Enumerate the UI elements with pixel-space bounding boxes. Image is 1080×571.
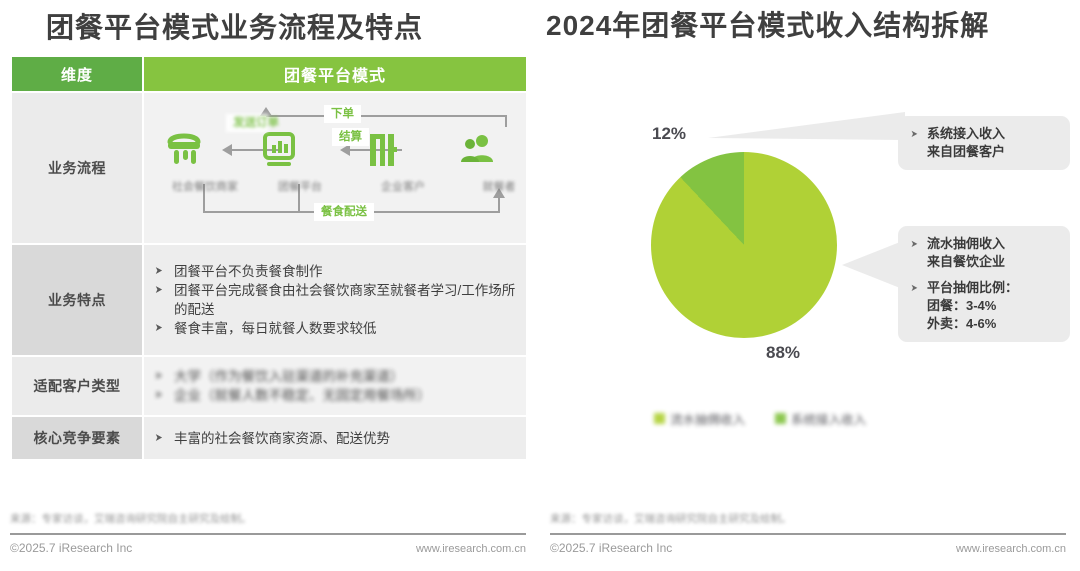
list-item: 团餐平台不负责餐食制作	[154, 262, 516, 281]
flow-node-platform: 团餐平台	[257, 128, 343, 194]
list-item: 系统接入收入 来自团餐客户	[910, 125, 1060, 161]
legend-label: 流水抽佣收入	[670, 409, 745, 428]
callout-leader-line-top	[700, 112, 910, 152]
people-icon	[456, 128, 542, 176]
row-body-core: 丰富的社会餐饮商家资源、配送优势	[144, 417, 526, 459]
source-note: 来源：专家访谈，艾瑞咨询研究院自主研究及绘制。	[550, 511, 792, 526]
list-item: 丰富的社会餐饮商家资源、配送优势	[154, 429, 516, 448]
list-item: 平台抽佣比例： 团餐：3-4% 外卖：4-6%	[910, 279, 1060, 333]
website-link[interactable]: www.iresearch.com.cn	[416, 543, 526, 555]
flow-tag-place-order: 下单	[324, 105, 361, 123]
chart-monitor-icon	[257, 128, 343, 176]
flow-node-label: 团餐平台	[257, 178, 343, 194]
slide-page: 团餐平台模式业务流程及特点 维度 团餐平台模式 业务流程	[0, 0, 1080, 571]
footer-divider	[10, 533, 526, 535]
legend-item-commission[interactable]: 流水抽佣收入	[654, 409, 745, 428]
row-body-features: 团餐平台不负责餐食制作 团餐平台完成餐食由社会餐饮商家至就餐者学习/工作场所的配…	[144, 245, 526, 355]
legend-label: 系统接入收入	[791, 409, 866, 428]
flow-tag-send-order: 发送订单	[226, 114, 268, 132]
pie-legend: 流水抽佣收入 系统接入收入	[605, 409, 915, 428]
business-flow-diagram: 社会餐饮商家	[154, 102, 516, 234]
row-body-client-types: 大学（作为餐饮入驻渠道的补充渠道） 企业（就餐人数不稳定、无固定用餐场所）	[144, 357, 526, 415]
flow-node-merchant: 社会餐饮商家	[162, 128, 248, 194]
row-label-core: 核心竞争要素	[12, 417, 142, 459]
callout-commission: 流水抽佣收入 来自餐饮企业 平台抽佣比例： 团餐：3-4% 外卖：4-6%	[898, 226, 1070, 342]
legend-swatch	[775, 413, 786, 424]
source-note: 来源：专家访谈，艾瑞咨询研究院自主研究及绘制。	[10, 511, 252, 526]
callout-system-access: 系统接入收入 来自团餐客户	[898, 116, 1070, 170]
list-item: 团餐平台完成餐食由社会餐饮商家至就餐者学习/工作场所的配送	[154, 281, 516, 319]
row-label-process: 业务流程	[12, 93, 142, 243]
header-dimension: 维度	[12, 57, 142, 91]
table-row: 核心竞争要素 丰富的社会餐饮商家资源、配送优势	[12, 417, 526, 459]
table-row: 业务特点 团餐平台不负责餐食制作 团餐平台完成餐食由社会餐饮商家至就餐者学习/工…	[12, 245, 526, 355]
left-panel: 团餐平台模式业务流程及特点 维度 团餐平台模式 业务流程	[0, 0, 540, 571]
header-mode: 团餐平台模式	[144, 57, 526, 91]
table-header-row: 维度 团餐平台模式	[12, 57, 526, 91]
commission-ratio-head: 平台抽佣比例：	[927, 280, 1018, 295]
process-table: 维度 团餐平台模式 业务流程	[10, 55, 528, 461]
flow-node-diner: 就餐者	[456, 128, 542, 194]
page-title-left: 团餐平台模式业务流程及特点	[46, 6, 423, 46]
page-title-right: 2024年团餐平台模式收入结构拆解	[546, 4, 989, 44]
callout-line: 来自餐饮企业	[927, 253, 1060, 271]
storefront-icon	[162, 128, 248, 176]
core-list: 丰富的社会餐饮商家资源、配送优势	[154, 429, 516, 448]
list-item: 企业（就餐人数不稳定、无固定用餐场所）	[154, 386, 516, 405]
flow-node-client: 企业客户	[360, 128, 446, 194]
callout-system-list: 系统接入收入 来自团餐客户	[910, 125, 1060, 161]
footer-divider	[550, 533, 1066, 535]
legend-swatch	[654, 413, 665, 424]
flow-node-label: 企业客户	[360, 178, 446, 194]
callout-line: 流水抽佣收入	[927, 236, 1005, 251]
building-icon	[360, 128, 446, 176]
list-item: 流水抽佣收入 来自餐饮企业	[910, 235, 1060, 271]
copyright: ©2025.7 iResearch Inc	[550, 541, 672, 555]
flow-node-label: 就餐者	[456, 178, 542, 194]
commission-ratio-row: 团餐：3-4%	[927, 297, 1060, 315]
callout-line: 系统接入收入	[927, 126, 1005, 141]
revenue-pie-chart	[651, 152, 837, 338]
row-label-client-types: 适配客户类型	[12, 357, 142, 415]
flow-tag-meal-delivery: 餐食配送	[314, 203, 374, 221]
footer-right: 来源：专家访谈，艾瑞咨询研究院自主研究及绘制。 ©2025.7 iResearc…	[540, 505, 1080, 571]
callout-commission-list: 流水抽佣收入 来自餐饮企业 平台抽佣比例： 团餐：3-4% 外卖：4-6%	[910, 235, 1060, 333]
pie-label-major: 88%	[766, 343, 800, 363]
features-list: 团餐平台不负责餐食制作 团餐平台完成餐食由社会餐饮商家至就餐者学习/工作场所的配…	[154, 262, 516, 338]
commission-ratio-row: 外卖：4-6%	[927, 315, 1060, 333]
list-item: 餐食丰富，每日就餐人数要求较低	[154, 319, 516, 338]
footer-left: 来源：专家访谈，艾瑞咨询研究院自主研究及绘制。 ©2025.7 iResearc…	[0, 505, 540, 571]
copyright: ©2025.7 iResearch Inc	[10, 541, 132, 555]
callout-line: 来自团餐客户	[927, 143, 1060, 161]
flow-node-label: 社会餐饮商家	[162, 178, 248, 194]
website-link[interactable]: www.iresearch.com.cn	[956, 543, 1066, 555]
legend-item-system[interactable]: 系统接入收入	[775, 409, 866, 428]
client-types-list: 大学（作为餐饮入驻渠道的补充渠道） 企业（就餐人数不稳定、无固定用餐场所）	[154, 367, 516, 405]
row-label-features: 业务特点	[12, 245, 142, 355]
flow-tag-settlement: 结算	[332, 128, 369, 146]
pie-label-minor: 12%	[652, 124, 686, 144]
table-row: 适配客户类型 大学（作为餐饮入驻渠道的补充渠道） 企业（就餐人数不稳定、无固定用…	[12, 357, 526, 415]
list-item: 大学（作为餐饮入驻渠道的补充渠道）	[154, 367, 516, 386]
table-row: 业务流程	[12, 93, 526, 243]
row-body-process: 社会餐饮商家	[144, 93, 526, 243]
